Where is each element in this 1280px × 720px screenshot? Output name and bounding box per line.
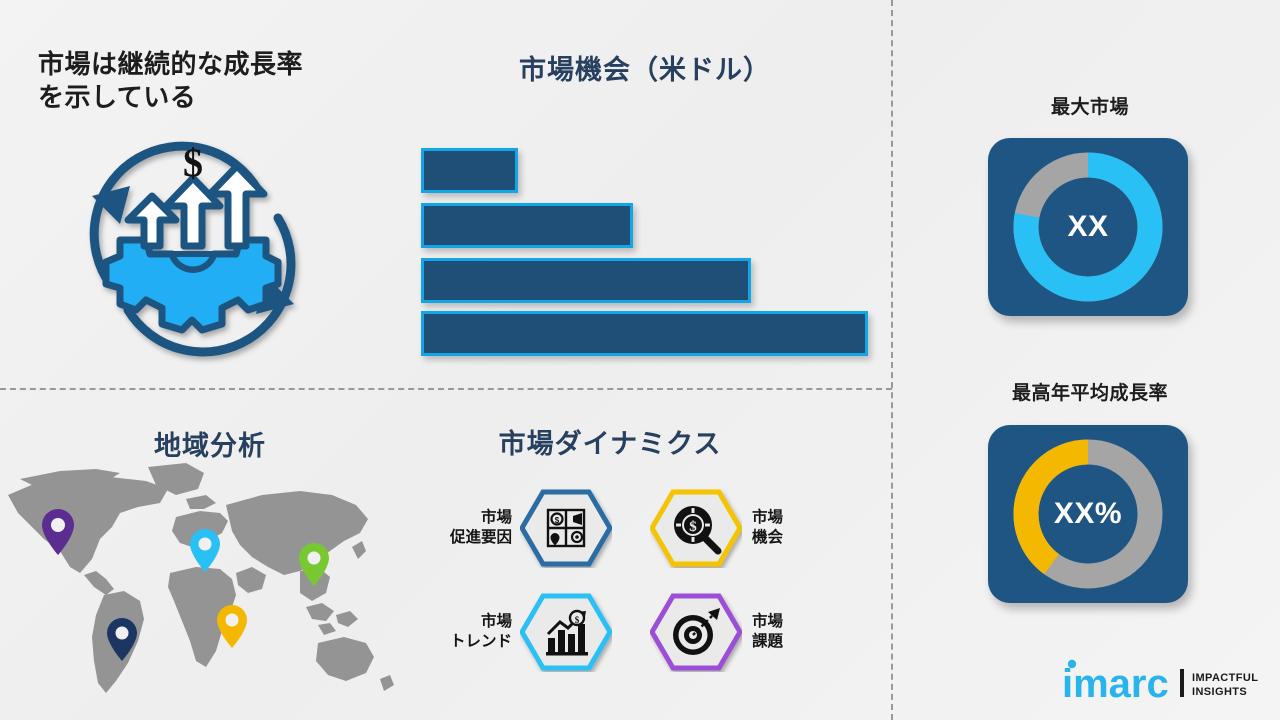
dynamics-item-trends[interactable]: 市場 トレンド $ <box>412 592 612 672</box>
target-dart-icon <box>650 592 742 672</box>
world-map <box>0 455 400 705</box>
svg-text:$: $ <box>575 615 580 625</box>
bar-chart-growth-icon: $ <box>520 592 612 672</box>
horizontal-divider <box>0 388 892 390</box>
opportunity-chart-title: 市場機会（米ドル） <box>400 48 890 87</box>
opportunity-bar-chart <box>421 148 881 358</box>
svg-text:$: $ <box>555 516 560 525</box>
growth-panel-title: 市場は継続的な成長率 を示している <box>38 48 388 114</box>
pin-middle-east <box>217 605 247 648</box>
dynamics-item-drivers-label: 市場 促進要因 <box>412 508 512 548</box>
imarc-logo: imarc IMPACTFUL INSIGHTS <box>1062 655 1267 707</box>
svg-text:$: $ <box>689 519 697 535</box>
logo-tagline-line2: INSIGHTS <box>1192 686 1247 698</box>
metric-card-largest-market: XX <box>988 138 1188 316</box>
bar-2 <box>421 203 633 248</box>
dynamics-panel-title: 市場ダイナミクス <box>410 422 810 461</box>
logo-wordmark: imarc <box>1062 662 1169 706</box>
magnifier-dollar-target-icon: $ <box>650 488 742 568</box>
metric-card-highest-cagr: XX% <box>988 425 1188 603</box>
metric-value-largest-market: XX <box>988 138 1188 316</box>
dynamics-item-drivers[interactable]: 市場 促進要因 $ <box>412 488 612 568</box>
bar-3 <box>421 258 751 303</box>
metric-title-highest-cagr: 最高年平均成長率 <box>925 382 1255 406</box>
dynamics-item-opportunities-label: 市場 機会 <box>752 508 848 548</box>
logo-separator-bar <box>1180 669 1184 697</box>
dynamics-item-trends-label: 市場 トレンド <box>412 612 512 652</box>
bar-1 <box>421 148 518 193</box>
infographic-slide: 市場は継続的な成長率 を示している <box>0 0 1280 720</box>
growth-cycle-gear-icon: $ <box>62 128 322 368</box>
pin-europe <box>190 529 220 572</box>
bar-4 <box>421 311 868 356</box>
metric-title-largest-market: 最大市場 <box>925 96 1255 120</box>
vertical-divider <box>891 0 893 720</box>
puzzle-pieces-icon: $ <box>520 488 612 568</box>
dollar-sign-label: $ <box>183 140 203 185</box>
dynamics-item-challenges[interactable]: 市場 課題 <box>650 592 850 672</box>
dynamics-item-challenges-label: 市場 課題 <box>752 612 848 652</box>
dynamics-item-opportunities[interactable]: $ 市場 機会 <box>650 488 850 568</box>
metric-value-highest-cagr: XX% <box>988 425 1188 603</box>
logo-tagline-line1: IMPACTFUL <box>1192 672 1258 684</box>
